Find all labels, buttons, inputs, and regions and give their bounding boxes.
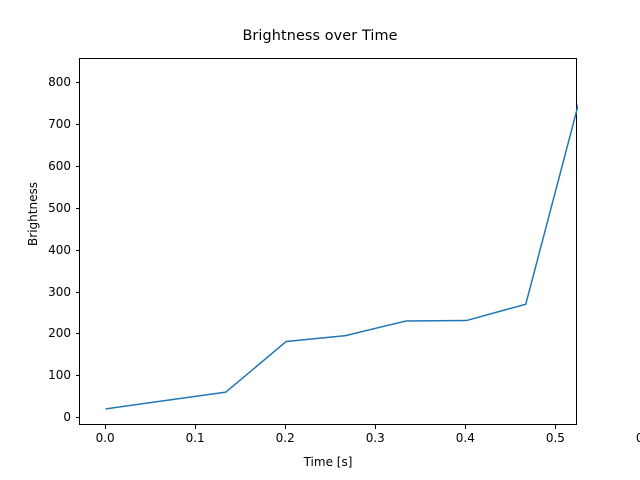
y-tick-label: 400 [48, 243, 71, 257]
brightness-line [106, 75, 578, 409]
y-tick-label: 200 [48, 326, 71, 340]
plot-area [79, 58, 577, 425]
y-tick-label: 0 [63, 410, 71, 424]
x-tick-label: 0.1 [186, 431, 205, 445]
y-tick-label: 600 [48, 159, 71, 173]
chart-title: Brightness over Time [0, 28, 640, 44]
figure-canvas: Brightness over Time Brightness 01002003… [0, 0, 640, 480]
x-tick-label: 0.4 [456, 431, 475, 445]
y-tick-label: 300 [48, 285, 71, 299]
x-tick-label: 0.5 [546, 431, 565, 445]
y-tick-label: 800 [48, 75, 71, 89]
x-tick-label: 0.2 [276, 431, 295, 445]
x-tick-label: 0.6 [636, 431, 640, 445]
y-tick-label: 700 [48, 117, 71, 131]
y-tick-label: 100 [48, 368, 71, 382]
x-tick-label: 0.0 [96, 431, 115, 445]
line-series-svg [80, 59, 578, 426]
y-axis-tick-labels: 0100200300400500600700800 [0, 0, 71, 480]
x-tick-label: 0.3 [366, 431, 385, 445]
y-tick-label: 500 [48, 201, 71, 215]
x-axis-label: Time [s] [79, 455, 577, 469]
